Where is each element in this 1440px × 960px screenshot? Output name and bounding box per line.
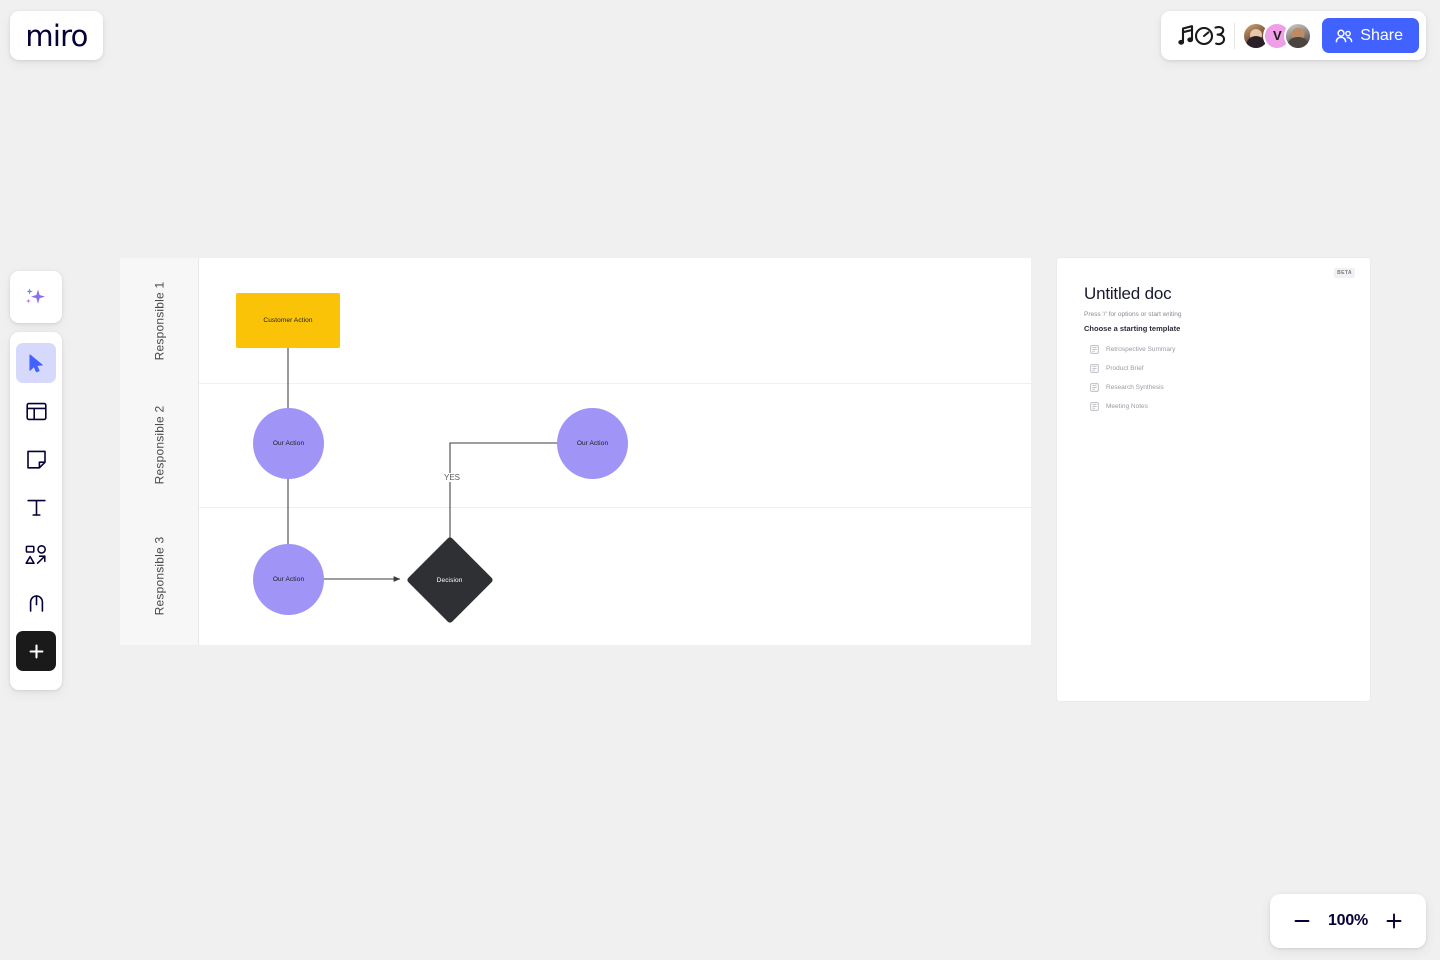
lane-label: Responsible 2	[153, 406, 167, 485]
zoom-in-button[interactable]	[1380, 907, 1408, 935]
lane-label: Responsible 3	[153, 537, 167, 616]
tool-templates[interactable]	[16, 391, 56, 431]
miro-logo-button[interactable]: miro	[10, 11, 103, 60]
template-label: Meeting Notes	[1106, 403, 1148, 410]
template-item-research-synthesis[interactable]: Research Synthesis	[1090, 378, 1350, 397]
tool-more-apps[interactable]	[16, 631, 56, 671]
plus-icon	[28, 643, 45, 660]
main-toolbar	[10, 332, 62, 690]
template-label: Product Brief	[1106, 365, 1144, 372]
share-button[interactable]: Share	[1322, 18, 1419, 53]
doc-hint-text: Press '/' for options or start writing	[1084, 311, 1182, 318]
document-icon	[1090, 345, 1099, 354]
minus-icon	[1292, 911, 1312, 931]
shape-label: Our Action	[273, 576, 304, 583]
zoom-out-button[interactable]	[1288, 907, 1316, 935]
templates-icon	[25, 400, 48, 423]
lane-header-responsible-3[interactable]: Responsible 3	[120, 507, 199, 645]
document-icon	[1090, 402, 1099, 411]
template-label: Retrospective Summary	[1106, 346, 1175, 353]
doc-template-subheading: Choose a starting template	[1084, 324, 1180, 333]
share-button-label: Share	[1360, 27, 1403, 45]
zoom-control: 100%	[1270, 894, 1426, 948]
ai-tool-card	[10, 271, 62, 323]
shapes-icon	[24, 543, 48, 567]
shape-label: Decision	[437, 576, 463, 583]
zoom-level-value: 100%	[1328, 912, 1368, 930]
toolbar-divider	[1234, 23, 1235, 49]
starting-template-list: Retrospective Summary Product Brief	[1090, 340, 1350, 416]
people-icon	[1335, 28, 1353, 44]
tool-select[interactable]	[16, 343, 56, 383]
document-icon	[1090, 364, 1099, 373]
edge-label-yes[interactable]: YES	[442, 473, 462, 482]
untitled-doc-panel[interactable]: BETA Untitled doc Press '/' for options …	[1057, 258, 1370, 701]
music-notes-reactions-icon[interactable]	[1175, 19, 1231, 53]
lane-separator	[199, 383, 1031, 384]
miro-logo-text: miro	[25, 19, 87, 53]
lane-separator	[199, 507, 1031, 508]
cursor-icon	[26, 353, 47, 374]
swimlane-frame[interactable]: Responsible 1 Responsible 2 Responsible …	[120, 258, 1031, 645]
template-item-meeting-notes[interactable]: Meeting Notes	[1090, 397, 1350, 416]
miro-board-app: miro V	[0, 0, 1440, 960]
shape-label: Our Action	[577, 440, 608, 447]
template-label: Research Synthesis	[1106, 384, 1164, 391]
shape-our-action-right[interactable]: Our Action	[557, 408, 628, 479]
shape-label: Customer Action	[263, 317, 312, 324]
text-icon	[25, 496, 48, 519]
lane-header-responsible-2[interactable]: Responsible 2	[120, 383, 199, 507]
tool-sticky-note[interactable]	[16, 439, 56, 479]
shape-our-action-lane2[interactable]: Our Action	[253, 408, 324, 479]
tool-pen[interactable]	[16, 583, 56, 623]
shape-our-action-lane3[interactable]: Our Action	[253, 544, 324, 615]
shape-customer-action[interactable]: Customer Action	[236, 293, 340, 348]
sparkles-icon[interactable]	[16, 277, 56, 317]
plus-icon	[1384, 911, 1404, 931]
beta-badge: BETA	[1334, 268, 1355, 278]
template-item-product-brief[interactable]: Product Brief	[1090, 359, 1350, 378]
document-icon	[1090, 383, 1099, 392]
lane-header-responsible-1[interactable]: Responsible 1	[120, 258, 199, 383]
avatar[interactable]	[1284, 22, 1312, 50]
doc-title[interactable]: Untitled doc	[1084, 284, 1171, 304]
sticky-note-icon	[25, 448, 48, 471]
shape-label: Our Action	[273, 440, 304, 447]
collaborator-avatars: V	[1242, 22, 1312, 50]
shape-decision[interactable]: Decision	[406, 536, 494, 624]
top-right-toolbar: V Share	[1161, 11, 1426, 60]
pen-icon	[25, 592, 48, 615]
tool-shapes[interactable]	[16, 535, 56, 575]
lane-label: Responsible 1	[153, 281, 167, 360]
tool-text[interactable]	[16, 487, 56, 527]
template-item-retrospective-summary[interactable]: Retrospective Summary	[1090, 340, 1350, 359]
